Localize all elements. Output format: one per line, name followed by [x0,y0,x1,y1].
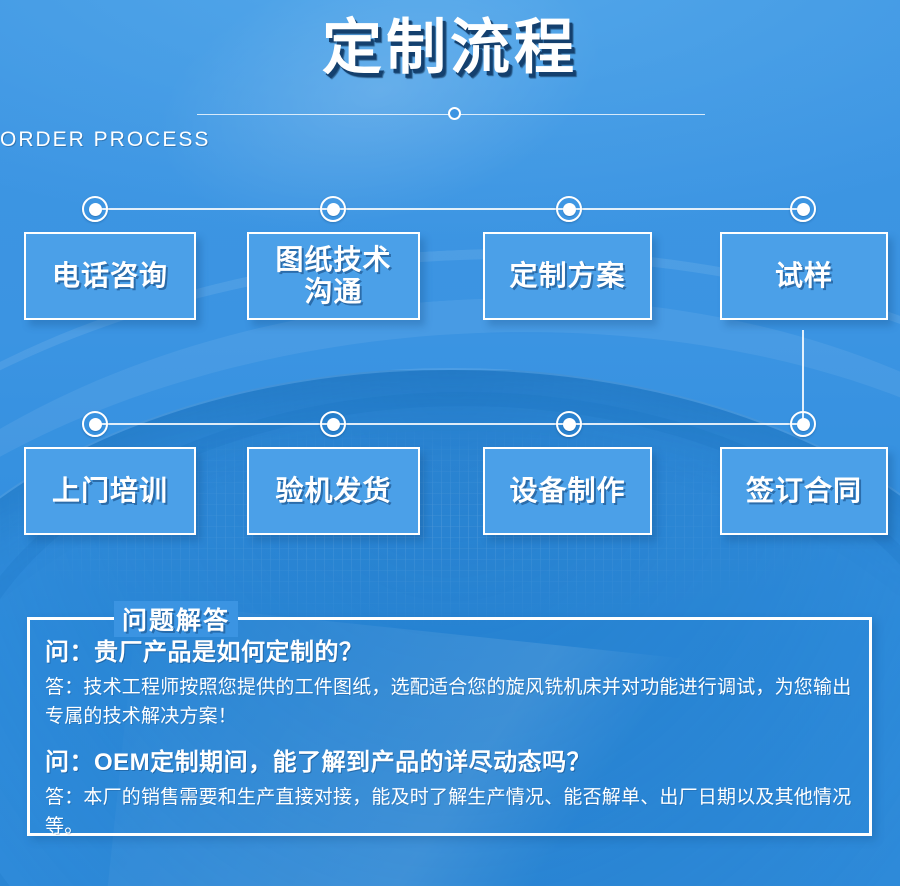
step-label-8: 签订合同 [746,475,862,507]
faq-section-title: 问题解答 [114,601,238,637]
page-title: 定制流程 [0,0,900,81]
step-card-custom-plan[interactable]: 定制方案 [483,232,652,320]
flow-row-1: 电话咨询 图纸技术 沟通 定制方案 试样 [0,190,900,350]
step-node-3-icon [556,196,582,222]
circle-node-icon [448,107,461,120]
step-node-4-icon [790,196,816,222]
step-node-8-icon [790,411,816,437]
faq-answer-2: 答：本厂的销售需要和生产直接对接，能及时了解生产情况、能否解单、出厂日期以及其他… [45,784,861,842]
flow-row-2: 上门培训 验机发货 设备制作 签订合同 [0,405,900,565]
header-divider [0,104,900,126]
step-card-phone-consult[interactable]: 电话咨询 [24,232,196,320]
faq-question-2: 问：OEM定制期间，能了解到产品的详尽动态吗？ [45,746,861,780]
step-label-1: 电话咨询 [52,260,168,292]
step-card-onsite-training[interactable]: 上门培训 [24,447,196,535]
faq-answer-1: 答：技术工程师按照您提供的工件图纸，选配适合您的旋风铣机床并对功能进行调试，为您… [45,674,861,732]
step-node-2-icon [320,196,346,222]
step-label-2: 图纸技术 沟通 [275,244,391,309]
step-card-sign-contract[interactable]: 签订合同 [720,447,888,535]
step-node-1-icon [82,196,108,222]
step-card-drawing-tech[interactable]: 图纸技术 沟通 [247,232,420,320]
step-node-6-icon [320,411,346,437]
faq-question-1: 问：贵厂产品是如何定制的？ [45,636,861,670]
step-label-4: 试样 [775,260,833,292]
step-label-3: 定制方案 [509,260,625,292]
connector-rail-row-2 [95,423,803,425]
step-card-sample-trial[interactable]: 试样 [720,232,888,320]
step-node-5-icon [82,411,108,437]
faq-content: 问：贵厂产品是如何定制的？ 答：技术工程师按照您提供的工件图纸，选配适合您的旋风… [45,636,861,842]
step-card-equipment-make[interactable]: 设备制作 [483,447,652,535]
connector-rail-row-1 [95,208,803,210]
page-subtitle: ORDER PROCESS [0,128,900,152]
step-label-6: 验机发货 [275,475,391,507]
step-label-7: 设备制作 [509,475,625,507]
header: 定制流程 [0,0,900,81]
order-process-banner: 定制流程 ORDER PROCESS 电话咨询 图纸技术 沟通 定制方案 试样 [0,0,900,886]
step-label-5: 上门培训 [52,475,168,507]
step-card-inspect-ship[interactable]: 验机发货 [247,447,420,535]
step-node-7-icon [556,411,582,437]
